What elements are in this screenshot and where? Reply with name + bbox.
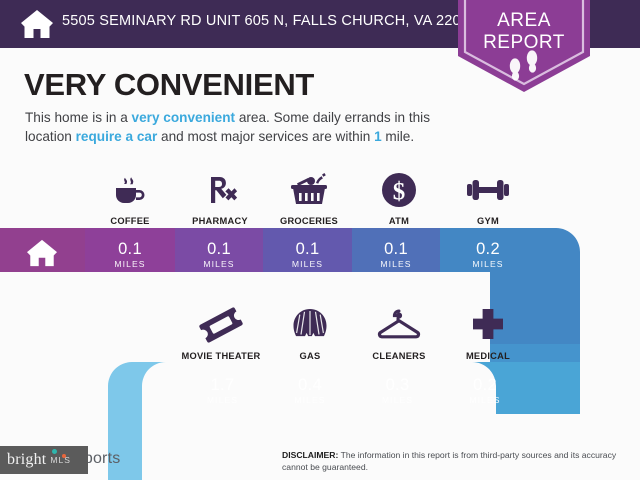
logo-teal-dot-icon bbox=[52, 449, 57, 454]
distance-value: 0.1 bbox=[175, 240, 263, 258]
category-label: CLEANERS bbox=[355, 351, 443, 361]
coffee-cup-icon bbox=[86, 168, 174, 212]
category-groceries: GROCERIES bbox=[265, 168, 353, 226]
distance-value: 0.2 bbox=[440, 240, 536, 258]
distance-medical: 0.2 MILES bbox=[440, 376, 530, 405]
distance-cleaners: 0.3 MILES bbox=[355, 376, 440, 405]
category-medical: MEDICAL bbox=[444, 303, 532, 361]
distance-coffee: 0.1 MILES bbox=[85, 240, 175, 269]
distance-value: 0.1 bbox=[263, 240, 352, 258]
logo-wordmark: bright bbox=[7, 451, 46, 469]
bright-mls-logo: bright MLS bbox=[0, 446, 88, 474]
row2-segment-right-tail bbox=[530, 362, 585, 414]
distance-value: 0.3 bbox=[355, 376, 440, 394]
category-gym: GYM bbox=[444, 168, 532, 226]
category-label: ATM bbox=[355, 216, 443, 226]
medical-cross-icon bbox=[444, 303, 532, 347]
category-label: PHARMACY bbox=[176, 216, 264, 226]
distance-atm: 0.1 MILES bbox=[352, 240, 440, 269]
distance-unit: MILES bbox=[180, 395, 265, 405]
badge-line2: REPORT bbox=[458, 32, 590, 54]
property-address: 5505 SEMINARY RD UNIT 605 N, FALLS CHURC… bbox=[62, 13, 477, 29]
distance-groceries: 0.1 MILES bbox=[263, 240, 352, 269]
distance-unit: MILES bbox=[85, 259, 175, 269]
category-gas: GAS bbox=[266, 303, 354, 361]
desc-highlight-require-car: require a car bbox=[76, 129, 158, 144]
desc-part1: This home is in a bbox=[25, 110, 132, 125]
logo-orange-dot-icon bbox=[62, 454, 66, 458]
category-movie-theater: MOVIE THEATER bbox=[177, 303, 265, 361]
distance-movie-theater: 1.7 MILES bbox=[180, 376, 265, 405]
distance-value: 0.4 bbox=[265, 376, 355, 394]
distance-unit: MILES bbox=[175, 259, 263, 269]
desc-highlight-miles: 1 bbox=[374, 129, 382, 144]
home-icon bbox=[20, 8, 54, 40]
category-label: GROCERIES bbox=[265, 216, 353, 226]
category-coffee: COFFEE bbox=[86, 168, 174, 226]
category-label: MOVIE THEATER bbox=[177, 351, 265, 361]
category-label: GAS bbox=[266, 351, 354, 361]
distance-unit: MILES bbox=[355, 395, 440, 405]
badge-label: AREA REPORT bbox=[458, 10, 590, 54]
movie-ticket-icon bbox=[177, 303, 265, 347]
distance-unit: MILES bbox=[265, 395, 355, 405]
home-icon bbox=[26, 238, 58, 268]
clothes-hanger-icon bbox=[355, 303, 443, 347]
disclaimer: DISCLAIMER: The information in this repo… bbox=[282, 450, 628, 473]
distance-value: 0.2 bbox=[440, 376, 530, 394]
category-label: GYM bbox=[444, 216, 532, 226]
dollar-atm-icon: $ bbox=[355, 168, 443, 212]
category-atm: $ ATM bbox=[355, 168, 443, 226]
page-description: This home is in a very convenient area. … bbox=[25, 108, 455, 146]
left-tail bbox=[100, 404, 160, 480]
dumbbell-gym-icon bbox=[444, 168, 532, 212]
svg-text:$: $ bbox=[393, 179, 406, 206]
desc-highlight-convenient: very convenient bbox=[132, 110, 236, 125]
distance-gym: 0.2 MILES bbox=[440, 240, 536, 269]
disclaimer-label: DISCLAIMER: bbox=[282, 450, 338, 460]
distance-unit: MILES bbox=[440, 259, 536, 269]
category-pharmacy: PHARMACY bbox=[176, 168, 264, 226]
distance-unit: MILES bbox=[263, 259, 352, 269]
area-report-page: 5505 SEMINARY RD UNIT 605 N, FALLS CHURC… bbox=[0, 0, 640, 480]
category-label: COFFEE bbox=[86, 216, 174, 226]
distance-value: 1.7 bbox=[180, 376, 265, 394]
distance-unit: MILES bbox=[440, 395, 530, 405]
category-label: MEDICAL bbox=[444, 351, 532, 361]
distance-value: 0.1 bbox=[85, 240, 175, 258]
badge-line1: AREA bbox=[458, 10, 590, 32]
prescription-rx-icon bbox=[176, 168, 264, 212]
category-cleaners: CLEANERS bbox=[355, 303, 443, 361]
area-report-badge: AREA REPORT bbox=[458, 0, 590, 92]
distance-unit: MILES bbox=[352, 259, 440, 269]
desc-part4: mile. bbox=[382, 129, 414, 144]
grocery-basket-icon bbox=[265, 168, 353, 212]
logo-subtext: MLS bbox=[50, 455, 70, 465]
page-title: VERY CONVENIENT bbox=[24, 67, 314, 103]
gas-shell-icon bbox=[266, 303, 354, 347]
distance-pharmacy: 0.1 MILES bbox=[175, 240, 263, 269]
desc-part3: and most major services are within bbox=[157, 129, 374, 144]
distance-value: 0.1 bbox=[352, 240, 440, 258]
distance-gas: 0.4 MILES bbox=[265, 376, 355, 405]
